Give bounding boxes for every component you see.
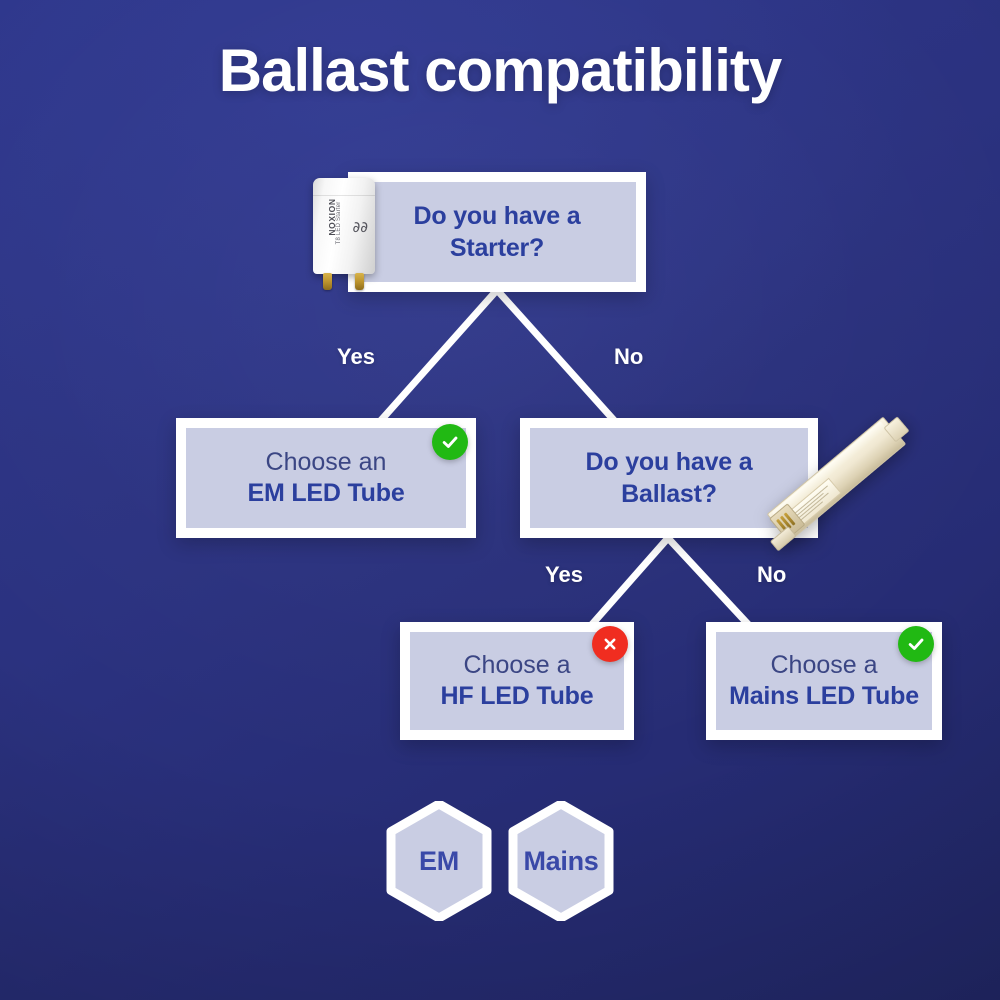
node-result-mains-panel: Choose a Mains LED Tube xyxy=(716,632,932,730)
infographic-canvas: Ballast compatibility Do you have a Star… xyxy=(0,0,1000,1000)
node-question-starter[interactable]: Do you have a Starter? xyxy=(348,172,646,292)
node-question-ballast-line1: Do you have a xyxy=(586,446,753,478)
node-result-mains-line2: Mains LED Tube xyxy=(729,681,919,712)
flowchart-connectors xyxy=(0,0,1000,1000)
connector-starter-yes xyxy=(383,290,497,418)
connector-starter-no xyxy=(497,290,612,418)
node-result-hf[interactable]: Choose a HF LED Tube xyxy=(400,622,634,740)
starter-model-text: T8 LED Starter xyxy=(336,191,342,255)
t8-led-starter-image: NOXION T8 LED Starter ∂∂ xyxy=(313,178,375,290)
branch-label-starter-no: No xyxy=(614,344,643,370)
branch-label-ballast-yes: Yes xyxy=(545,562,583,588)
node-question-ballast-line2: Ballast? xyxy=(621,478,717,510)
node-result-hf-line1: Choose a xyxy=(463,650,570,681)
connector-ballast-yes xyxy=(594,538,668,622)
starter-pin-right xyxy=(355,273,364,290)
legend-hex-em[interactable]: EM xyxy=(386,801,492,921)
node-result-hf-panel: Choose a HF LED Tube xyxy=(410,632,624,730)
node-result-em[interactable]: Choose an EM LED Tube xyxy=(176,418,476,538)
branch-label-ballast-no: No xyxy=(757,562,786,588)
compatible-check-icon xyxy=(432,424,468,460)
legend-hex-em-label: EM xyxy=(386,801,492,921)
compatible-check-icon-mains xyxy=(898,626,934,662)
not-compatible-cross-icon xyxy=(592,626,628,662)
node-result-em-line1: Choose an xyxy=(266,447,387,478)
branch-label-starter-yes: Yes xyxy=(337,344,375,370)
starter-pin-left xyxy=(323,273,332,290)
legend-hex-mains-label: Mains xyxy=(508,801,614,921)
ballast-end-tab xyxy=(883,416,909,442)
node-result-mains[interactable]: Choose a Mains LED Tube xyxy=(706,622,942,740)
node-result-hf-line2: HF LED Tube xyxy=(441,681,594,712)
honeycomb-background-pattern xyxy=(0,0,1000,1000)
page-title: Ballast compatibility xyxy=(0,36,1000,105)
node-question-starter-panel: Do you have a Starter? xyxy=(358,182,636,282)
node-question-starter-line1: Do you have a xyxy=(414,200,581,232)
node-result-mains-line1: Choose a xyxy=(770,650,877,681)
legend-hex-mains[interactable]: Mains xyxy=(508,801,614,921)
node-result-em-panel: Choose an EM LED Tube xyxy=(186,428,466,528)
ce-mark-icon: ∂∂ xyxy=(352,218,368,236)
node-result-em-line2: EM LED Tube xyxy=(247,478,404,509)
starter-seam xyxy=(313,195,375,196)
connector-ballast-no xyxy=(668,538,746,622)
node-question-starter-line2: Starter? xyxy=(450,232,544,264)
starter-body: NOXION T8 LED Starter ∂∂ xyxy=(313,178,375,274)
background-vignette xyxy=(0,0,1000,1000)
